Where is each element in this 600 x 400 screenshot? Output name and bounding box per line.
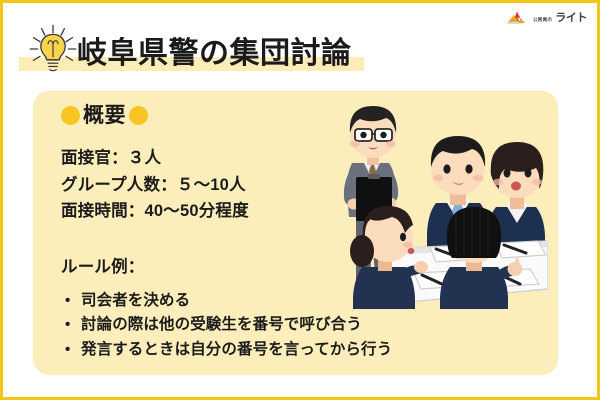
page-title: 岐阜県警の集団討論: [77, 39, 352, 75]
page-title-text: 岐阜県警の集団討論: [77, 37, 352, 70]
page-title-row: 岐阜県警の集団討論: [27, 21, 352, 75]
spec-line: 面接時間：40〜50分程度: [61, 198, 249, 225]
filled-circle-icon-left: [61, 106, 80, 125]
list-item: • 討論の際は他の受験生を番号で呼び合う: [65, 313, 392, 337]
slide-canvas: 公務員の ライト: [0, 0, 600, 400]
list-item-label: 討論の際は他の受験生を番号で呼び合う: [81, 313, 362, 337]
brand-sub-label: 公務員の: [533, 18, 552, 23]
group-discussion-artwork: [318, 91, 548, 309]
section-heading: 概要: [61, 105, 148, 126]
group-discussion-illustration: [318, 91, 548, 309]
spec-list: 面接官：３人 グループ人数：５〜10人 面接時間：40〜50分程度: [61, 145, 249, 225]
spec-line: グループ人数：５〜10人: [61, 172, 249, 199]
bullet-icon: •: [65, 317, 81, 332]
rules-label: ルール例：: [61, 253, 145, 277]
bullet-icon: •: [65, 293, 81, 308]
filled-circle-icon-right: [129, 106, 148, 125]
bullet-icon: •: [65, 342, 81, 357]
lightbulb-icon: [27, 23, 79, 75]
spec-line: 面接官：３人: [61, 145, 249, 172]
section-heading-label: 概要: [82, 105, 127, 126]
list-item-label: 発言するときは自分の番号を言ってから行う: [81, 338, 392, 362]
brand-logo[interactable]: 公務員の ライト: [504, 9, 587, 27]
list-item-label: 司会者を決める: [81, 289, 190, 313]
brand-name-label: ライト: [555, 13, 587, 24]
mountain-peak-logo-icon: [504, 10, 530, 26]
list-item: • 発言するときは自分の番号を言ってから行う: [65, 338, 392, 362]
